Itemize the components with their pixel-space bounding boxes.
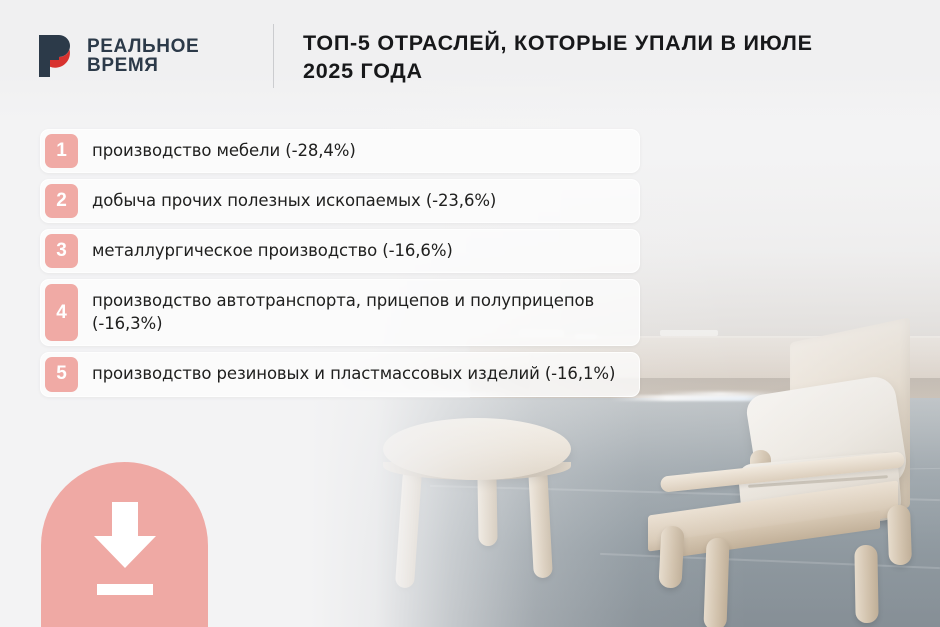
brand-name-line2: ВРЕМЯ bbox=[87, 56, 199, 75]
rank-badge: 5 bbox=[45, 357, 78, 391]
ranking-list: 1 производство мебели (-28,4%) 2 добыча … bbox=[40, 129, 640, 403]
list-item[interactable]: 5 производство резиновых и пластмассовых… bbox=[40, 352, 640, 396]
header-divider bbox=[273, 24, 274, 88]
rank-badge: 2 bbox=[45, 184, 78, 218]
list-item[interactable]: 3 металлургическое производство (-16,6%) bbox=[40, 229, 640, 273]
infographic-poster: РЕАЛЬНОЕ ВРЕМЯ ТОП-5 ОТРАСЛЕЙ, КОТОРЫЕ У… bbox=[0, 0, 940, 627]
rank-badge: 1 bbox=[45, 134, 78, 168]
list-item[interactable]: 4 производство автотранспорта, прицепов … bbox=[40, 279, 640, 346]
arrow-head bbox=[94, 536, 156, 568]
list-item[interactable]: 2 добыча прочих полезных ископаемых (-23… bbox=[40, 179, 640, 223]
arrow-stem bbox=[112, 502, 138, 540]
page-title: ТОП-5 ОТРАСЛЕЙ, КОТОРЫЕ УПАЛИ В ИЮЛЕ 202… bbox=[303, 30, 863, 86]
header: РЕАЛЬНОЕ ВРЕМЯ ТОП-5 ОТРАСЛЕЙ, КОТОРЫЕ У… bbox=[0, 0, 940, 112]
list-item-label: производство резиновых и пластмассовых и… bbox=[82, 353, 639, 395]
brand-logo[interactable]: РЕАЛЬНОЕ ВРЕМЯ bbox=[37, 33, 199, 79]
brand-wordmark: РЕАЛЬНОЕ ВРЕМЯ bbox=[87, 37, 199, 76]
decline-badge bbox=[41, 462, 208, 627]
brand-name-line1: РЕАЛЬНОЕ bbox=[87, 37, 199, 56]
list-item-label: добыча прочих полезных ископаемых (-23,6… bbox=[82, 180, 639, 222]
list-item-label: производство мебели (-28,4%) bbox=[82, 130, 639, 172]
rank-badge: 3 bbox=[45, 234, 78, 268]
list-item-label: производство автотранспорта, прицепов и … bbox=[82, 280, 639, 345]
arrow-baseline bbox=[97, 584, 153, 595]
list-item[interactable]: 1 производство мебели (-28,4%) bbox=[40, 129, 640, 173]
list-item-label: металлургическое производство (-16,6%) bbox=[82, 230, 639, 272]
rank-badge: 4 bbox=[45, 284, 78, 341]
realnoe-vremya-mark-icon bbox=[37, 33, 77, 79]
arrow-down-icon bbox=[94, 502, 156, 568]
